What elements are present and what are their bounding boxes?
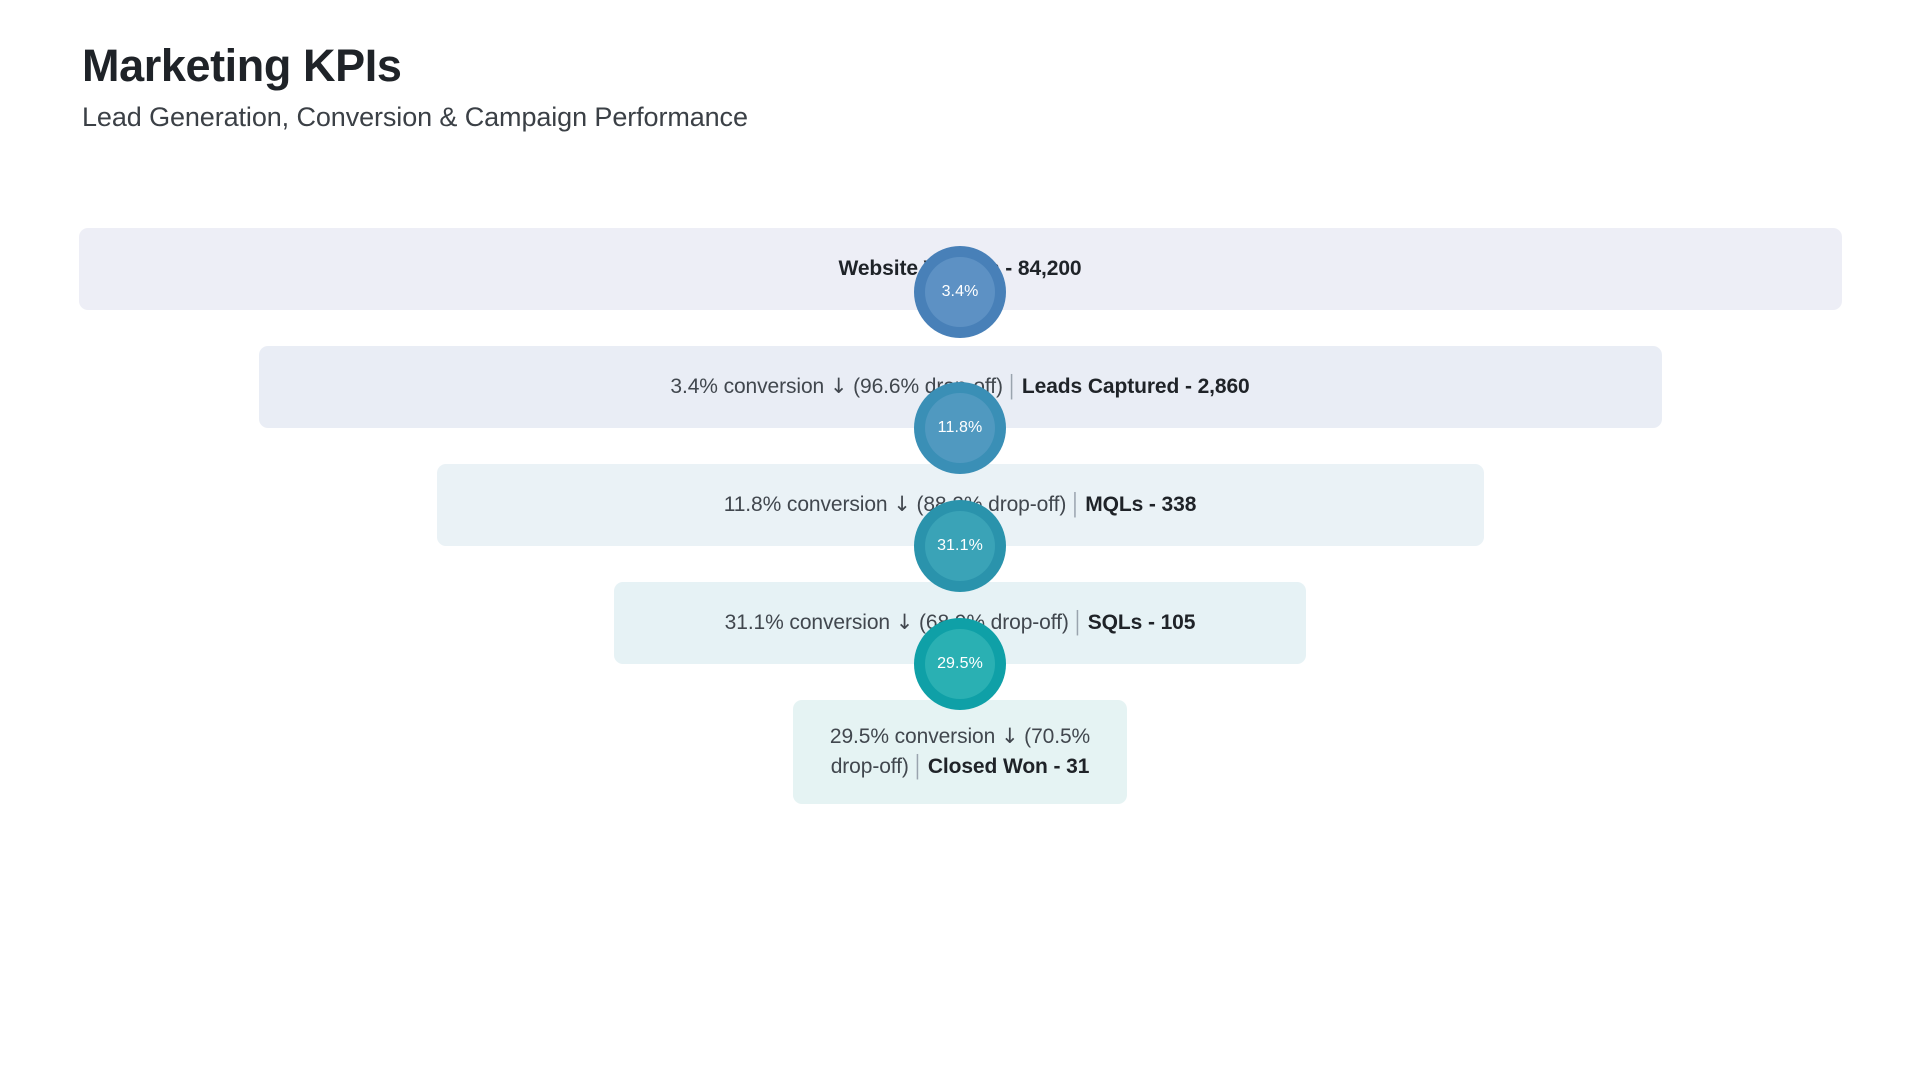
label-separator: │ <box>1066 493 1085 516</box>
page-subtitle: Lead Generation, Conversion & Campaign P… <box>82 103 748 133</box>
funnel-stage-sqls: 31.1% conversion ↓ (68.9% drop-off)│SQLs… <box>0 582 1920 664</box>
badge-inner-disc: 3.4% <box>925 257 995 327</box>
conversion-badge-badge-31-1[interactable]: 31.1% <box>914 500 1006 592</box>
funnel-label-closed-won: 29.5% conversion ↓ (70.5% drop-off)│Clos… <box>793 722 1127 782</box>
badge-percent-text: 11.8% <box>938 420 983 436</box>
funnel-chart: Website Visitors - 84,2003.4%3.4% conver… <box>0 228 1920 804</box>
down-arrow-icon: ↓ <box>896 610 914 634</box>
conversion-badge-badge-29-5[interactable]: 29.5% <box>914 618 1006 710</box>
badge-inner-disc: 11.8% <box>925 393 995 463</box>
conversion-meta-sqls: 31.1% conversion ↓ (68.9% drop-off) <box>725 611 1069 634</box>
funnel-stage-closed-won: 29.5% conversion ↓ (70.5% drop-off)│Clos… <box>0 700 1920 804</box>
badge-percent-text: 3.4% <box>942 284 979 300</box>
funnel-stage-website-visitors: Website Visitors - 84,2003.4% <box>0 228 1920 310</box>
stage-name-closed-won: Closed Won - 31 <box>928 755 1089 778</box>
conversion-badge-badge-11-8[interactable]: 11.8% <box>914 382 1006 474</box>
conversion-meta-mqls: 11.8% conversion ↓ (88.2% drop-off) <box>724 493 1067 516</box>
down-arrow-icon: ↓ <box>830 374 848 398</box>
page-header: Marketing KPIs Lead Generation, Conversi… <box>82 42 748 133</box>
badge-percent-text: 31.1% <box>937 538 983 554</box>
page-title: Marketing KPIs <box>82 42 748 89</box>
label-separator: │ <box>1003 375 1022 398</box>
label-separator: │ <box>909 755 928 778</box>
funnel-stage-mqls: 11.8% conversion ↓ (88.2% drop-off)│MQLs… <box>0 464 1920 546</box>
stage-name-mqls: MQLs - 338 <box>1085 493 1196 516</box>
funnel-bar-closed-won[interactable]: 29.5% conversion ↓ (70.5% drop-off)│Clos… <box>793 700 1127 804</box>
badge-inner-disc: 29.5% <box>925 629 995 699</box>
down-arrow-icon: ↓ <box>1001 724 1019 748</box>
funnel-chart-page: Marketing KPIs Lead Generation, Conversi… <box>0 0 1920 1080</box>
stage-name-sqls: SQLs - 105 <box>1088 611 1196 634</box>
funnel-stage-leads-captured: 3.4% conversion ↓ (96.6% drop-off)│Leads… <box>0 346 1920 428</box>
down-arrow-icon: ↓ <box>893 492 911 516</box>
stage-name-leads-captured: Leads Captured - 2,860 <box>1022 375 1250 398</box>
label-separator: │ <box>1069 611 1088 634</box>
conversion-badge-badge-3-4[interactable]: 3.4% <box>914 246 1006 338</box>
badge-percent-text: 29.5% <box>937 656 983 672</box>
badge-inner-disc: 31.1% <box>925 511 995 581</box>
